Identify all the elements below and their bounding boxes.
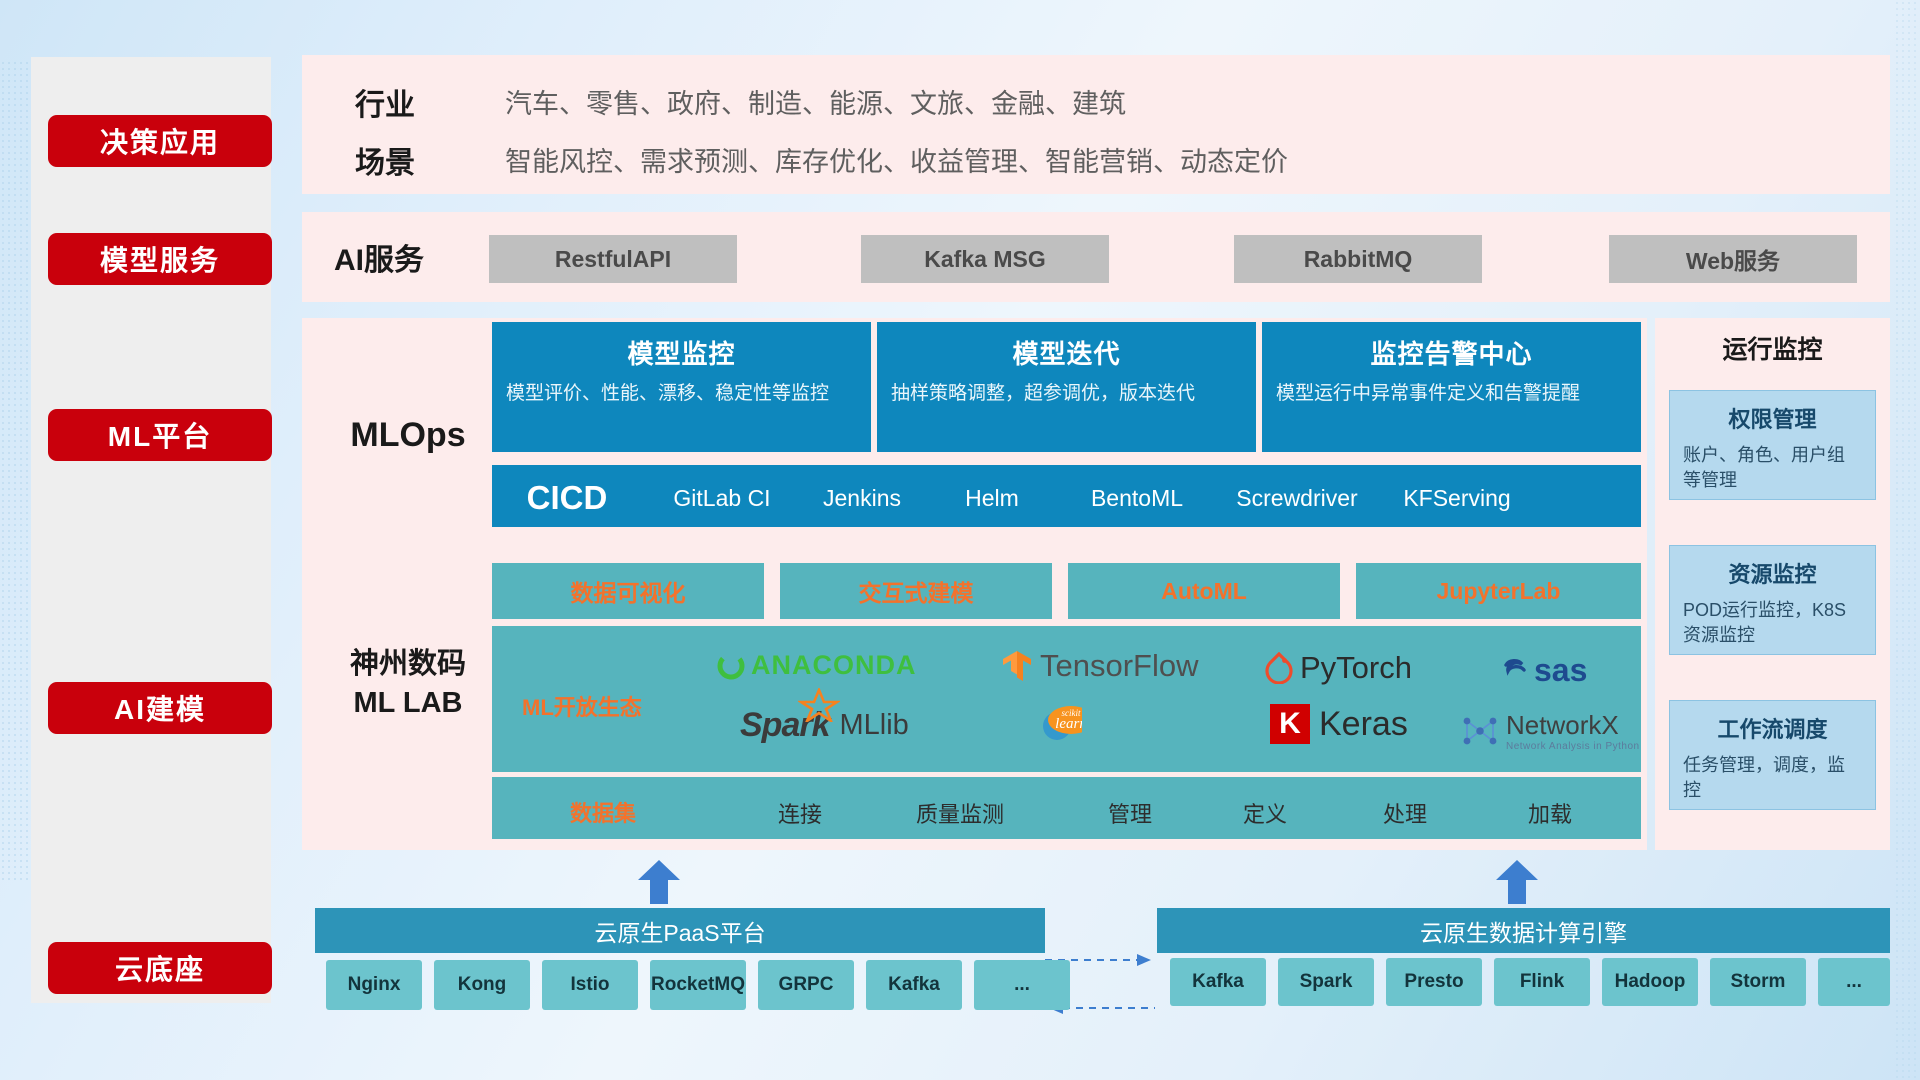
cloud-bar-title: 云原生数据计算引擎 xyxy=(1420,914,1627,948)
chip-label: Kafka MSG xyxy=(924,246,1045,273)
lab-tool-data-visualization[interactable]: 数据可视化 xyxy=(492,563,764,619)
rail-badge-label: 模型服务 xyxy=(100,239,220,279)
monitor-card-desc: 账户、角色、用户组等管理 xyxy=(1683,443,1862,493)
anaconda-icon xyxy=(716,651,746,681)
tag-label: Hadoop xyxy=(1615,972,1686,993)
sas-icon xyxy=(1500,656,1532,686)
spark-star-icon xyxy=(798,688,840,722)
paas-tag-istio[interactable]: Istio xyxy=(542,960,638,1010)
monitor-card-desc: POD运行监控，K8S资源监控 xyxy=(1683,598,1862,648)
engine-tag-storm[interactable]: Storm xyxy=(1710,958,1806,1006)
diagram-canvas: 决策应用 模型服务 ML平台 AI建模 云底座 行业 汽车、零售、政府、制造、能… xyxy=(0,0,1920,1080)
arrow-up-paas xyxy=(636,858,682,904)
tag-label: RocketMQ xyxy=(651,975,745,996)
dataset-item-quality[interactable]: 质量监测 xyxy=(890,797,1030,829)
tag-label: ... xyxy=(1014,975,1030,996)
paas-tag-kafka[interactable]: Kafka xyxy=(866,960,962,1010)
cicd-title: CICD xyxy=(492,465,642,517)
logo-spark-mllib: Spark MLlib xyxy=(740,706,909,745)
sklearn-icon: scikit learn xyxy=(1040,702,1082,744)
rail-badge-ai-modeling[interactable]: AI建模 xyxy=(48,682,272,734)
card-title: 模型迭代 xyxy=(877,334,1256,371)
paas-tag-kong[interactable]: Kong xyxy=(434,960,530,1010)
cloud-bar-title: 云原生PaaS平台 xyxy=(594,914,765,948)
tag-label: GRPC xyxy=(779,975,834,996)
networkx-icon xyxy=(1460,713,1500,749)
card-desc: 模型运行中异常事件定义和告警提醒 xyxy=(1276,381,1627,407)
logo-label: Keras xyxy=(1319,705,1408,744)
lab-tool-automl[interactable]: AutoML xyxy=(1068,563,1340,619)
ml-lab-label: 神州数码 ML LAB xyxy=(320,645,496,723)
card-title: 模型监控 xyxy=(492,334,871,371)
monitor-card-resource[interactable]: 资源监控 POD运行监控，K8S资源监控 xyxy=(1669,545,1876,655)
monitor-card-permission[interactable]: 权限管理 账户、角色、用户组等管理 xyxy=(1669,390,1876,500)
monitor-card-title: 资源监控 xyxy=(1670,557,1875,589)
cloud-bar-engine: 云原生数据计算引擎 xyxy=(1157,908,1890,953)
arrow-up-engine xyxy=(1494,858,1540,904)
background-texture-right xyxy=(1894,0,1920,1080)
logo-pytorch: PyTorch xyxy=(1264,650,1412,686)
logo-label: NetworkX xyxy=(1506,710,1640,741)
paas-tag-grpc[interactable]: GRPC xyxy=(758,960,854,1010)
card-desc: 抽样策略调整，超参调优，版本迭代 xyxy=(891,381,1242,407)
scenario-value: 智能风控、需求预测、库存优化、收益管理、智能营销、动态定价 xyxy=(505,140,1288,179)
logo-label: sas xyxy=(1534,652,1587,689)
svg-text:learn: learn xyxy=(1055,716,1082,732)
engine-tag-spark[interactable]: Spark xyxy=(1278,958,1374,1006)
cicd-item-bentoml[interactable]: BentoML xyxy=(1062,465,1212,513)
mlops-card-alert-center[interactable]: 监控告警中心 模型运行中异常事件定义和告警提醒 xyxy=(1262,322,1641,452)
mlops-card-model-iteration[interactable]: 模型迭代 抽样策略调整，超参调优，版本迭代 xyxy=(877,322,1256,452)
tag-label: Presto xyxy=(1404,972,1463,993)
mllib-wordmark: MLlib xyxy=(840,709,909,742)
rail-badge-model-service[interactable]: 模型服务 xyxy=(48,233,272,285)
paas-tag-rocketmq[interactable]: RocketMQ xyxy=(650,960,746,1010)
cloud-bar-paas: 云原生PaaS平台 xyxy=(315,908,1045,953)
tag-label: Storm xyxy=(1731,972,1786,993)
dataset-item-connect[interactable]: 连接 xyxy=(740,797,860,829)
tag-label: ... xyxy=(1846,972,1862,993)
logo-label: PyTorch xyxy=(1300,650,1412,686)
tensorflow-icon xyxy=(1000,649,1034,683)
tag-label: Flink xyxy=(1520,972,1564,993)
cicd-item-screwdriver[interactable]: Screwdriver xyxy=(1212,465,1382,513)
logo-networkx: NetworkX Network Analysis in Python xyxy=(1460,710,1640,752)
chip-label: RabbitMQ xyxy=(1304,246,1413,273)
tool-label: JupyterLab xyxy=(1437,578,1561,605)
tool-label: 交互式建模 xyxy=(859,574,974,608)
logo-anaconda: ANACONDA xyxy=(716,650,917,681)
tag-label: Nginx xyxy=(348,975,401,996)
service-chip-rabbitmq[interactable]: RabbitMQ xyxy=(1234,235,1482,283)
ml-lab-label-line1: 神州数码 xyxy=(320,645,496,684)
monitor-card-title: 权限管理 xyxy=(1670,402,1875,434)
pytorch-icon xyxy=(1264,652,1294,684)
logo-label: TensorFlow xyxy=(1040,648,1199,684)
tag-label: Kong xyxy=(458,975,507,996)
dataset-item-process[interactable]: 处理 xyxy=(1345,797,1465,829)
monitor-card-desc: 任务管理，调度，监控 xyxy=(1683,753,1862,803)
tag-label: Kafka xyxy=(888,975,940,996)
card-desc: 模型评价、性能、漂移、稳定性等监控 xyxy=(506,381,857,407)
scenario-label: 场景 xyxy=(355,138,415,182)
rail-badge-label: 决策应用 xyxy=(100,121,220,161)
engine-tag-kafka[interactable]: Kafka xyxy=(1170,958,1266,1006)
engine-tag-more[interactable]: ... xyxy=(1818,958,1890,1006)
engine-tag-flink[interactable]: Flink xyxy=(1494,958,1590,1006)
rail-badge-cloud-base[interactable]: 云底座 xyxy=(48,942,272,994)
monitor-title: 运行监控 xyxy=(1655,330,1890,366)
cicd-item-helm[interactable]: Helm xyxy=(922,465,1062,513)
tag-label: Spark xyxy=(1300,972,1353,993)
card-title: 监控告警中心 xyxy=(1262,334,1641,371)
logo-sas: sas xyxy=(1500,652,1587,689)
logo-keras: K Keras xyxy=(1270,704,1408,744)
logo-tensorflow: TensorFlow xyxy=(1000,648,1199,684)
dataset-item-manage[interactable]: 管理 xyxy=(1070,797,1190,829)
paas-tag-nginx[interactable]: Nginx xyxy=(326,960,422,1010)
keras-icon: K xyxy=(1270,704,1310,744)
service-chip-web[interactable]: Web服务 xyxy=(1609,235,1857,283)
rail-badge-ml-platform[interactable]: ML平台 xyxy=(48,409,272,461)
tool-label: 数据可视化 xyxy=(571,574,686,608)
service-chip-kafka-msg[interactable]: Kafka MSG xyxy=(861,235,1109,283)
cicd-item-kfserving[interactable]: KFServing xyxy=(1382,465,1532,513)
tag-label: Kafka xyxy=(1192,972,1244,993)
service-chip-restfulapi[interactable]: RestfulAPI xyxy=(489,235,737,283)
mlops-label: MLOps xyxy=(328,318,488,552)
tool-label: AutoML xyxy=(1161,578,1247,605)
lab-tool-jupyterlab[interactable]: JupyterLab xyxy=(1356,563,1641,619)
monitor-card-workflow[interactable]: 工作流调度 任务管理，调度，监控 xyxy=(1669,700,1876,810)
chip-label: RestfulAPI xyxy=(555,246,671,273)
engine-tag-hadoop[interactable]: Hadoop xyxy=(1602,958,1698,1006)
dataset-item-load[interactable]: 加载 xyxy=(1490,797,1610,829)
logo-scikit-learn: scikit learn xyxy=(1040,702,1082,744)
cicd-item-jenkins[interactable]: Jenkins xyxy=(802,465,922,513)
rail-badge-label: AI建模 xyxy=(114,688,206,728)
chip-label: Web服务 xyxy=(1686,242,1780,276)
ai-service-label: AI服务 xyxy=(334,212,484,302)
left-rail xyxy=(31,57,271,1003)
rail-badge-label: 云底座 xyxy=(115,948,205,988)
rail-badge-decision[interactable]: 决策应用 xyxy=(48,115,272,167)
lab-ecosystem-label: ML开放生态 xyxy=(522,690,642,722)
paas-tag-more[interactable]: ... xyxy=(974,960,1070,1010)
ml-lab-label-line2: ML LAB xyxy=(320,684,496,723)
tag-label: Istio xyxy=(570,975,609,996)
networkx-tagline: Network Analysis in Python xyxy=(1506,741,1640,752)
logo-label: ANACONDA xyxy=(751,650,917,681)
mlops-card-model-monitoring[interactable]: 模型监控 模型评价、性能、漂移、稳定性等监控 xyxy=(492,322,871,452)
dataset-item-define[interactable]: 定义 xyxy=(1205,797,1325,829)
lab-dataset-label: 数据集 xyxy=(570,796,636,828)
industry-value: 汽车、零售、政府、制造、能源、文旅、金融、建筑 xyxy=(505,82,1126,121)
rail-badge-label: ML平台 xyxy=(108,415,212,455)
industry-label: 行业 xyxy=(355,80,415,124)
monitor-card-title: 工作流调度 xyxy=(1670,712,1875,744)
cicd-toolchain-bar: CICD GitLab CI Jenkins Helm BentoML Scre… xyxy=(492,465,1641,527)
cicd-item-gitlab-ci[interactable]: GitLab CI xyxy=(642,465,802,513)
lab-tool-interactive-modeling[interactable]: 交互式建模 xyxy=(780,563,1052,619)
lab-dataset-band xyxy=(492,777,1641,839)
engine-tag-presto[interactable]: Presto xyxy=(1386,958,1482,1006)
